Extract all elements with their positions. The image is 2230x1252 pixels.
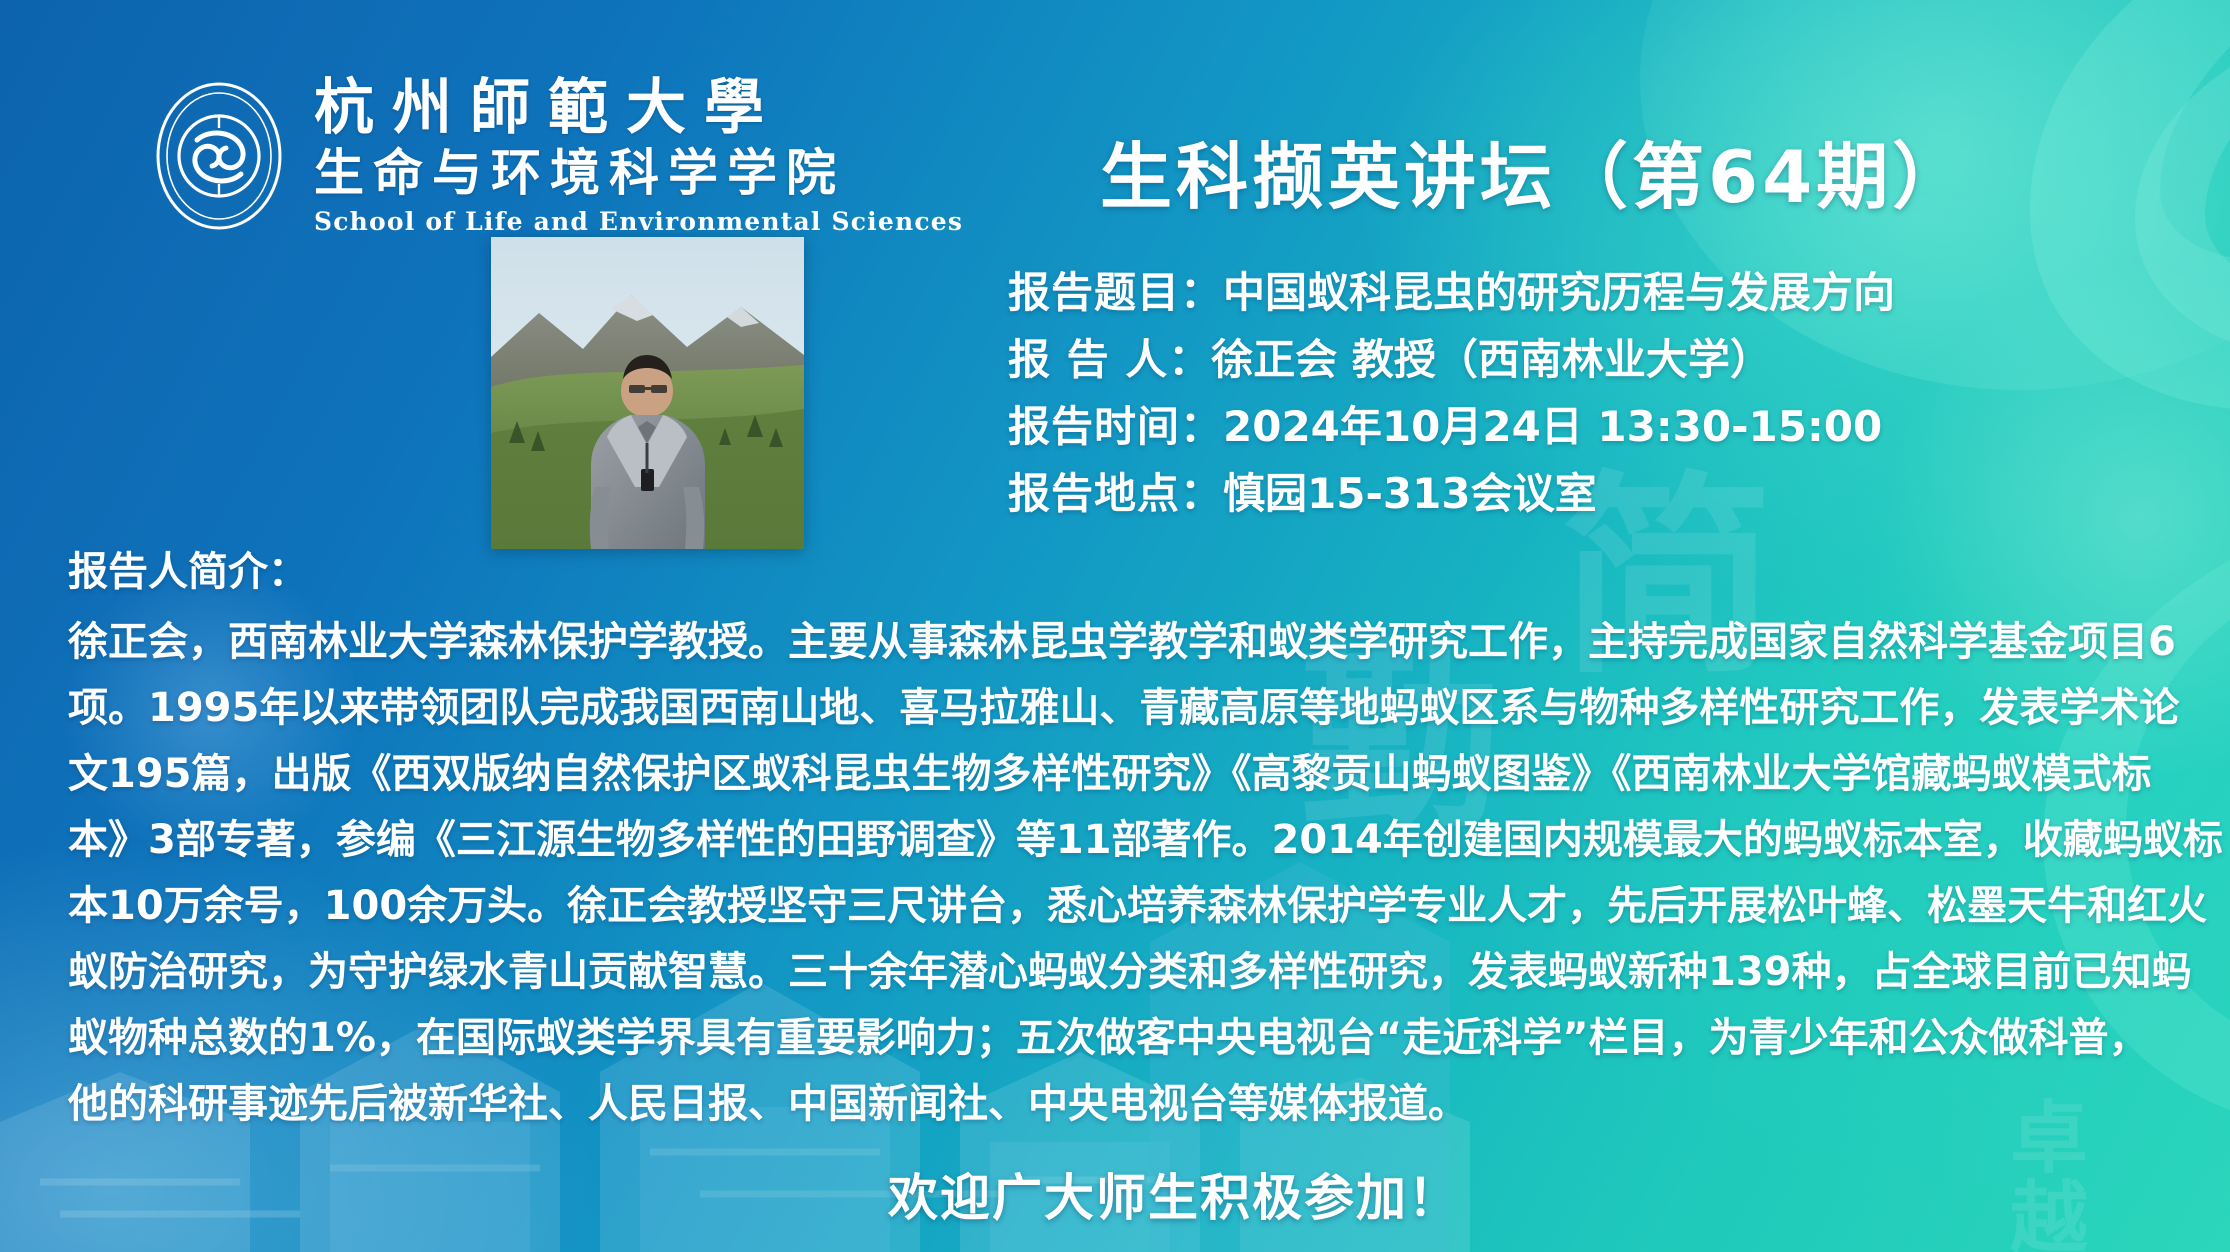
speaker-photo	[491, 237, 804, 549]
detail-value-topic: 中国蚁科昆虫的研究历程与发展方向	[1223, 268, 1895, 317]
detail-value-speaker: 徐正会 教授（西南林业大学）	[1211, 335, 1772, 384]
speaker-bio: 报告人简介： 徐正会，西南林业大学森林保护学教授。主要从事森林昆虫学教学和蚁类学…	[68, 552, 2168, 1150]
detail-label-time: 报告时间：	[1008, 402, 1223, 451]
watermark-right-2: 越	[2010, 1180, 2090, 1252]
school-seal-icon	[150, 80, 288, 232]
bio-line: 文195篇，出版《西双版纳自然保护区蚁科昆虫生物多样性研究》《高黎贡山蚂蚁图鉴》…	[68, 754, 2168, 794]
bio-line: 本10万余号，100余万头。徐正会教授坚守三尺讲台，悉心培养森林保护学专业人才，…	[68, 886, 2168, 926]
detail-row-speaker: 报 告 人：徐正会 教授（西南林业大学）	[1008, 339, 2208, 381]
bio-line: 项。1995年以来带领团队完成我国西南山地、喜马拉雅山、青藏高原等地蚂蚁区系与物…	[68, 688, 2168, 728]
poster-canvas: 简 勤 卓 越	[0, 0, 2230, 1252]
detail-label-venue: 报告地点：	[1008, 469, 1223, 518]
bio-line: 本》3部专著，参编《三江源生物多样性的田野调查》等11部著作。2014年创建国内…	[68, 820, 2168, 860]
detail-row-venue: 报告地点：慎园15-313会议室	[1008, 473, 2208, 515]
bio-heading: 报告人简介：	[68, 552, 2168, 592]
bio-line: 蚁物种总数的1%，在国际蚁类学界具有重要影响力；五次做客中央电视台“走近科学”栏…	[68, 1018, 2168, 1058]
university-name-cn: 杭州師範大學	[314, 78, 963, 138]
detail-value-venue: 慎园15-313会议室	[1223, 469, 1597, 518]
detail-label-speaker: 报 告 人：	[1008, 335, 1211, 384]
call-to-action: 欢迎广大师生积极参加！	[0, 1158, 1460, 1230]
bio-line: 他的科研事迹先后被新华社、人民日报、中国新闻社、中央电视台等媒体报道。	[68, 1084, 2168, 1124]
page-title: 生科撷英讲坛（第64期）	[1100, 118, 2160, 223]
detail-label-topic: 报告题目：	[1008, 268, 1223, 317]
detail-value-time: 2024年10月24日 13:30-15:00	[1223, 402, 1882, 451]
detail-row-topic: 报告题目：中国蚁科昆虫的研究历程与发展方向	[1008, 272, 2208, 314]
bio-line: 徐正会，西南林业大学森林保护学教授。主要从事森林昆虫学教学和蚁类学研究工作，主持…	[68, 622, 2168, 662]
bio-line: 蚁防治研究，为守护绿水青山贡献智慧。三十余年潜心蚂蚁分类和多样性研究，发表蚂蚁新…	[68, 952, 2168, 992]
school-name-cn: 生命与环境科学学院	[314, 148, 963, 198]
detail-row-time: 报告时间：2024年10月24日 13:30-15:00	[1008, 406, 2208, 448]
school-name-en: School of Life and Environmental Science…	[314, 209, 963, 234]
brand-lockup: 杭州師範大學 生命与环境科学学院 School of Life and Envi…	[150, 78, 963, 234]
talk-details: 报告题目：中国蚁科昆虫的研究历程与发展方向 报 告 人：徐正会 教授（西南林业大…	[1008, 272, 2208, 540]
